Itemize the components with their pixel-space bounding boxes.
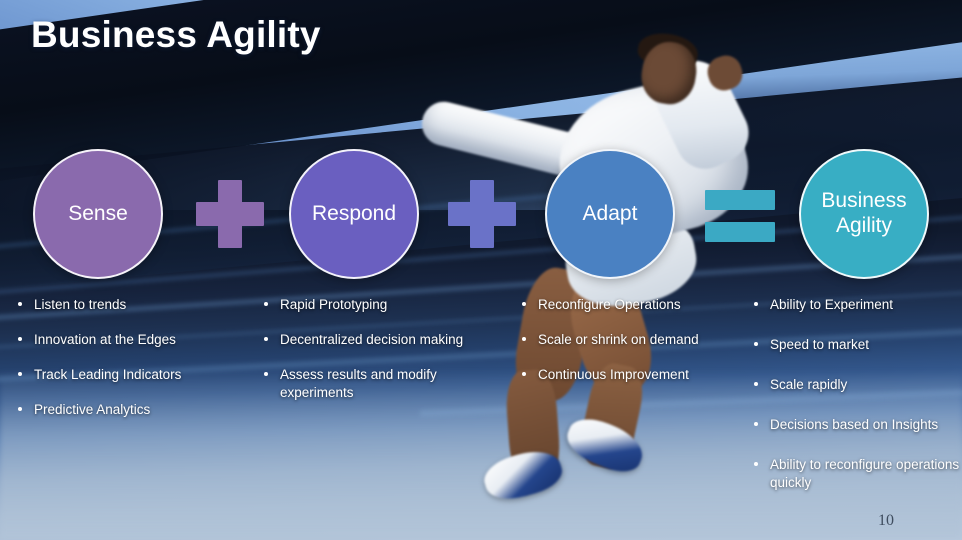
list-item: Listen to trends bbox=[12, 296, 252, 314]
circle-adapt: Adapt bbox=[545, 149, 675, 279]
bullet-column-sense: Listen to trends Innovation at the Edges… bbox=[12, 296, 252, 436]
list-item: Ability to reconfigure operations quickl… bbox=[748, 456, 962, 492]
list-item: Decisions based on Insights bbox=[748, 416, 962, 434]
page-title: Business Agility bbox=[31, 14, 321, 56]
circle-business-agility-label: Business Agility bbox=[813, 189, 914, 239]
plus-icon bbox=[446, 178, 518, 250]
bullet-column-adapt: Reconfigure Operations Scale or shrink o… bbox=[516, 296, 746, 401]
page-number: 10 bbox=[878, 512, 894, 530]
circle-business-agility: Business Agility bbox=[799, 149, 929, 279]
circle-respond: Respond bbox=[289, 149, 419, 279]
list-item: Innovation at the Edges bbox=[12, 331, 252, 349]
circle-sense: Sense bbox=[33, 149, 163, 279]
circle-sense-label: Sense bbox=[60, 202, 136, 227]
list-item: Assess results and modify experiments bbox=[258, 366, 508, 402]
list-item: Ability to Experiment bbox=[748, 296, 962, 314]
circle-respond-label: Respond bbox=[304, 202, 404, 227]
list-item: Rapid Prototyping bbox=[258, 296, 508, 314]
bullet-column-business-agility: Ability to Experiment Speed to market Sc… bbox=[748, 296, 962, 514]
bullet-columns: Listen to trends Innovation at the Edges… bbox=[0, 296, 962, 516]
list-item: Track Leading Indicators bbox=[12, 366, 252, 384]
plus-icon bbox=[194, 178, 266, 250]
list-item: Scale or shrink on demand bbox=[516, 331, 746, 349]
list-item: Decentralized decision making bbox=[258, 331, 508, 349]
slide-business-agility: Business Agility Sense Respond Adapt Bus… bbox=[0, 0, 962, 540]
equals-icon bbox=[705, 188, 775, 244]
list-item: Continuous Improvement bbox=[516, 366, 746, 384]
list-item: Scale rapidly bbox=[748, 376, 962, 394]
list-item: Speed to market bbox=[748, 336, 962, 354]
list-item: Reconfigure Operations bbox=[516, 296, 746, 314]
list-item: Predictive Analytics bbox=[12, 401, 252, 419]
bullet-column-respond: Rapid Prototyping Decentralized decision… bbox=[258, 296, 508, 419]
circle-adapt-label: Adapt bbox=[575, 202, 646, 227]
